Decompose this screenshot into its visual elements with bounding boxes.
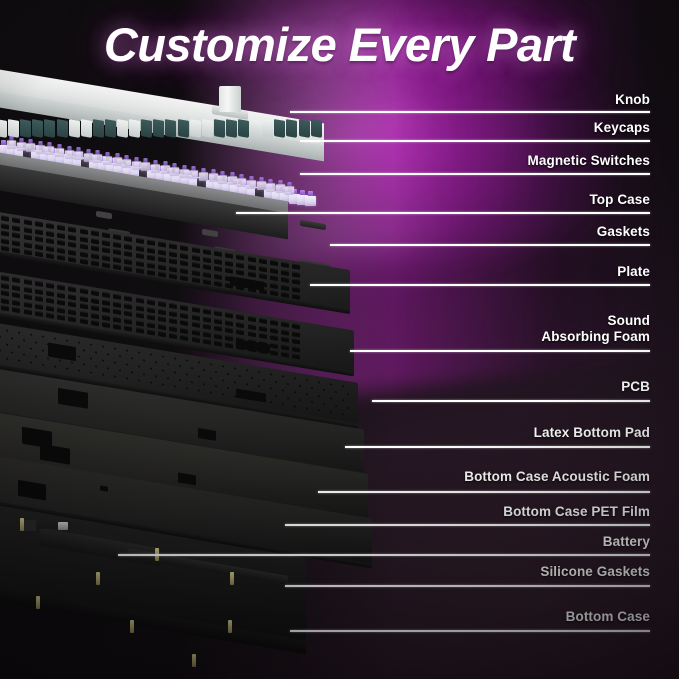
- leader-line-bottom-case-acoustic-foam: [318, 491, 650, 493]
- leader-line-latex-bottom-pad: [345, 446, 650, 448]
- battery-wire: [36, 524, 58, 529]
- callout-sound-absorbing-foam: Sound Absorbing Foam: [541, 313, 650, 345]
- callout-label: Bottom Case Acoustic Foam: [464, 469, 650, 485]
- callout-label: Silicone Gaskets: [540, 564, 650, 580]
- callout-keycaps: Keycaps: [594, 120, 650, 136]
- leader-line-sound-absorbing-foam: [350, 350, 650, 352]
- callout-latex-bottom-pad: Latex Bottom Pad: [534, 425, 650, 441]
- callout-bottom-case: Bottom Case: [566, 609, 650, 625]
- battery-connector-clip: [58, 522, 68, 530]
- callout-bottom-case-acoustic-foam: Bottom Case Acoustic Foam: [464, 469, 650, 485]
- callout-silicone-gaskets: Silicone Gaskets: [540, 564, 650, 580]
- callout-label: Keycaps: [594, 120, 650, 136]
- callout-plate: Plate: [617, 264, 650, 280]
- callout-battery: Battery: [603, 534, 650, 550]
- bottom-case-screw-post: [192, 654, 196, 667]
- callout-label: Latex Bottom Pad: [534, 425, 650, 441]
- leader-line-plate: [310, 284, 650, 286]
- leader-line-gaskets: [330, 244, 650, 246]
- callout-label: Sound Absorbing Foam: [541, 313, 650, 345]
- callout-knob: Knob: [615, 92, 650, 108]
- leader-line-bottom-case-pet-film: [285, 524, 650, 526]
- callout-label: Bottom Case: [566, 609, 650, 625]
- bottom-case-screw-post: [20, 518, 24, 531]
- leader-line-top-case: [236, 212, 650, 214]
- callout-pcb: PCB: [621, 379, 650, 395]
- bottom-case-screw-post: [36, 596, 40, 609]
- callout-label: Plate: [617, 264, 650, 280]
- callout-gaskets: Gaskets: [597, 224, 650, 240]
- callout-top-case: Top Case: [589, 192, 650, 208]
- callout-label: Battery: [603, 534, 650, 550]
- callout-label: Magnetic Switches: [528, 153, 650, 169]
- leader-line-magnetic-switches: [300, 173, 650, 175]
- bottom-case-screw-post: [228, 620, 232, 633]
- callout-bottom-case-pet-film: Bottom Case PET Film: [503, 504, 650, 520]
- callout-label: PCB: [621, 379, 650, 395]
- leader-line-battery: [118, 554, 650, 556]
- callout-label: Gaskets: [597, 224, 650, 240]
- callout-label: Bottom Case PET Film: [503, 504, 650, 520]
- callout-label: Top Case: [589, 192, 650, 208]
- product-infographic: Customize Every Part KnobKeycapsMagnetic…: [0, 0, 679, 679]
- bottom-case-screw-post: [96, 572, 100, 585]
- leader-line-silicone-gaskets: [285, 585, 650, 587]
- leader-line-knob: [290, 111, 650, 113]
- bottom-case-screw-post: [230, 572, 234, 585]
- callout-magnetic-switches: Magnetic Switches: [528, 153, 650, 169]
- leader-line-keycaps: [300, 140, 650, 142]
- bottom-case-screw-post: [130, 620, 134, 633]
- leader-line-pcb: [372, 400, 650, 402]
- leader-line-bottom-case: [290, 630, 650, 632]
- callout-label: Knob: [615, 92, 650, 108]
